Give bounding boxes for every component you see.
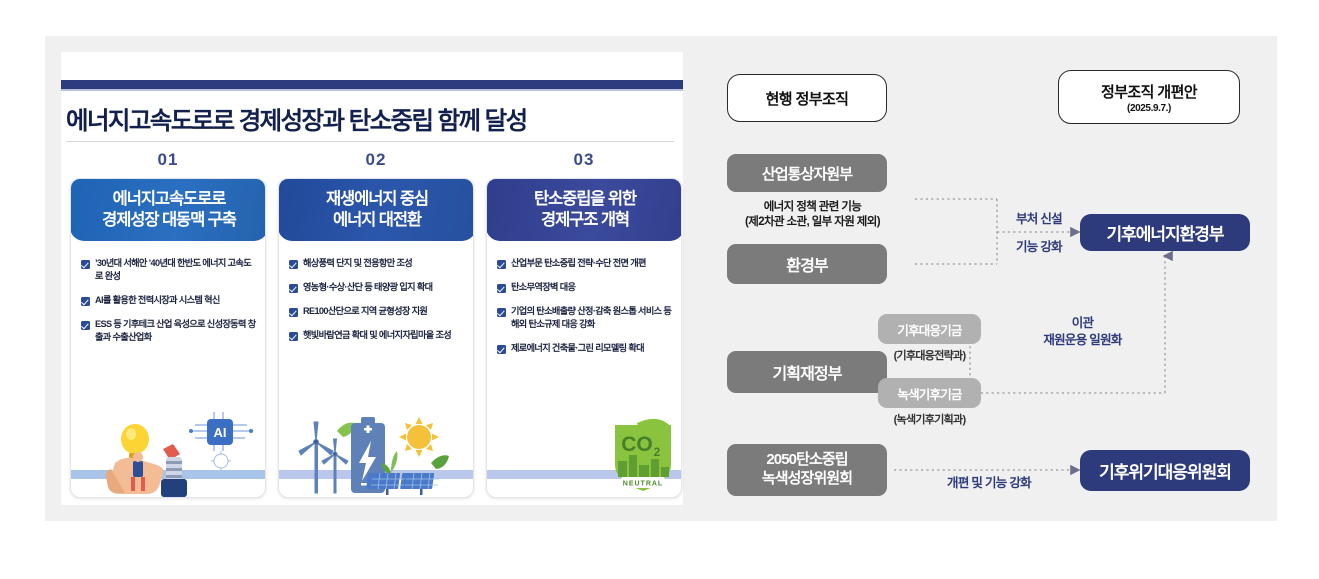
check-icon [289, 332, 298, 341]
card-3-title-line1: 탄소중립을 위한 [534, 189, 636, 210]
svg-text:CO: CO [621, 433, 653, 456]
list-item: 산업부문 탄소중립 전략·수단 전면 개편 [497, 257, 674, 270]
check-icon [497, 284, 506, 293]
page-title: 에너지고속도로로 경제성장과 탄소중립 함께 달성 [66, 102, 678, 137]
list-item: 제로에너지 건축물·그린 리모델링 확대 [497, 342, 674, 355]
bullet-text: 영농형·수상·산단 등 태양광 입지 확대 [303, 281, 432, 294]
card-number-03: 03 [486, 150, 682, 170]
title-divider [66, 141, 674, 142]
card-1-illustration: AI [71, 411, 266, 497]
fund-dept-climate-response: (기후대응전략과) [878, 347, 981, 363]
org-label: 환경부 [786, 252, 827, 276]
bullet-text: 기업의 탄소배출량 산정·감축 원스톱 서비스 등 해외 탄소규제 대응 강화 [511, 305, 674, 331]
panel-top-bar [61, 80, 683, 89]
org-box-climate-energy-environment-ministry[interactable]: 기후에너지환경부 [1080, 214, 1250, 251]
bullet-text: ’30년대 서해안 ’40년대 한반도 에너지 고속도로 완성 [95, 257, 258, 283]
note-new-ministry: 부처 신설 기능 강화 [1000, 211, 1078, 256]
check-icon [81, 297, 90, 306]
card-3-illustration: CO 2 NEUTRAL [487, 411, 682, 497]
card-2-bullets: 해상풍력 단지 및 전용항만 조성 영농형·수상·산단 등 태양광 입지 확대 … [279, 249, 474, 353]
note-energy-function-line1: 에너지 정책 관련 기능 [710, 200, 915, 215]
svg-text:AI: AI [214, 425, 227, 440]
bullet-text: AI를 활용한 전력시장과 시스템 혁신 [95, 294, 220, 307]
note-fund-transfer-line1: 이관 [1000, 315, 1165, 332]
bullet-text: RE100산단으로 지역 균형성장 지원 [303, 305, 427, 318]
bullet-text: 해상풍력 단지 및 전용항만 조성 [303, 257, 412, 270]
card-1-title-line2: 경제성장 대동맥 구축 [102, 210, 236, 231]
left-policy-panel: 에너지고속도로로 경제성장과 탄소중립 함께 달성 01 02 03 에너지고속… [61, 52, 683, 505]
check-icon [497, 345, 506, 354]
org-label-line2: 녹색성장위원회 [762, 470, 852, 489]
bullet-text: ESS 등 기후테크 산업 육성으로 신성장동력 창출과 수출산업화 [95, 318, 258, 344]
org-box-motie[interactable]: 산업통상자원부 [727, 154, 887, 192]
card-1-header: 에너지고속도로로 경제성장 대동맥 구축 [70, 178, 266, 241]
header-reform-plan: 정부조직 개편안 (2025.9.7.) [1058, 70, 1240, 124]
fund-label: 기후대응기금 [897, 320, 961, 339]
list-item: RE100산단으로 지역 균형성장 지원 [289, 305, 466, 318]
list-item: ESS 등 기후테크 산업 육성으로 신성장동력 창출과 수출산업화 [81, 318, 258, 344]
card-2-title-line2: 에너지 대전환 [333, 210, 421, 231]
org-box-2050-committee[interactable]: 2050탄소중립 녹색성장위원회 [727, 444, 887, 496]
check-icon [289, 260, 298, 269]
card-3-title-line2: 경제구조 개혁 [541, 210, 629, 231]
fund-dept-green-climate: (녹색기후기획과) [878, 411, 981, 427]
check-icon [497, 308, 506, 317]
bullet-text: 산업부문 탄소중립 전략·수단 전면 개편 [511, 257, 646, 270]
org-label: 기획재정부 [772, 360, 841, 384]
org-box-climate-crisis-committee[interactable]: 기후위기대응위원회 [1080, 450, 1250, 491]
header-plan-date: (2025.9.7.) [1127, 103, 1171, 114]
note-energy-function-line2: (제2차관 소관, 일부 자원 제외) [710, 215, 915, 230]
list-item: 해상풍력 단지 및 전용항만 조성 [289, 257, 466, 270]
government-reorg-diagram: 현행 정부조직 정부조직 개편안 (2025.9.7.) 산업통상자원부 에너지… [700, 52, 1277, 505]
list-item: AI를 활용한 전력시장과 시스템 혁신 [81, 294, 258, 307]
card-2-title-line1: 재생에너지 중심 [326, 189, 428, 210]
policy-cards: 01 02 03 에너지고속도로로 경제성장 대동맥 구축 ’30년대 서해안 … [66, 150, 678, 498]
header-current-structure: 현행 정부조직 [727, 74, 887, 122]
bullet-text: 탄소무역장벽 대응 [511, 281, 575, 294]
co2-neutral-badge-icon: CO 2 NEUTRAL [487, 411, 682, 497]
card-2-illustration [279, 411, 474, 497]
bullet-text: 제로에너지 건축물·그린 리모델링 확대 [511, 342, 644, 355]
org-label: 기후위기대응위원회 [1099, 458, 1231, 483]
card-number-01: 01 [70, 150, 266, 170]
check-icon [289, 308, 298, 317]
note-fund-transfer: 이관 재원운용 일원화 [1000, 315, 1165, 349]
org-label-line1: 2050탄소중립 [766, 451, 847, 470]
org-box-moe[interactable]: 환경부 [727, 244, 887, 284]
check-icon [289, 284, 298, 293]
org-label: 기후에너지환경부 [1106, 220, 1223, 245]
card-2-header: 재생에너지 중심 에너지 대전환 [278, 178, 474, 241]
note-fund-transfer-line2: 재원운용 일원화 [1000, 332, 1165, 349]
svg-text:2: 2 [654, 445, 661, 459]
note-new-ministry-line1: 부처 신설 [1000, 211, 1078, 228]
policy-card-2[interactable]: 재생에너지 중심 에너지 대전환 해상풍력 단지 및 전용항만 조성 영농형·수… [278, 178, 474, 498]
policy-card-1[interactable]: 에너지고속도로로 경제성장 대동맥 구축 ’30년대 서해안 ’40년대 한반도… [70, 178, 266, 498]
panel-top-bar-shadow [61, 89, 683, 91]
list-item: 영농형·수상·산단 등 태양광 입지 확대 [289, 281, 466, 294]
note-new-ministry-line2: 기능 강화 [1000, 239, 1078, 256]
infographic-page: 에너지고속도로로 경제성장과 탄소중립 함께 달성 01 02 03 에너지고속… [0, 0, 1319, 579]
list-item: 햇빛바람연금 확대 및 에너지자립마을 조성 [289, 329, 466, 342]
note-energy-function: 에너지 정책 관련 기능 (제2차관 소관, 일부 자원 제외) [710, 200, 915, 230]
fund-label: 녹색기후기금 [897, 384, 961, 403]
check-icon [81, 260, 90, 269]
card-3-bullets: 산업부문 탄소중립 전략·수단 전면 개편 탄소무역장벽 대응 기업의 탄소배출… [487, 249, 682, 366]
fund-box-green-climate[interactable]: 녹색기후기금 [878, 378, 981, 408]
card-1-bullets: ’30년대 서해안 ’40년대 한반도 에너지 고속도로 완성 AI를 활용한 … [71, 249, 266, 355]
fund-box-climate-response[interactable]: 기후대응기금 [878, 314, 981, 344]
note-reorganization: 개편 및 기능 강화 [900, 475, 1078, 492]
card-3-header: 탄소중립을 위한 경제구조 개혁 [486, 178, 682, 241]
svg-text:NEUTRAL: NEUTRAL [623, 481, 663, 488]
list-item: 기업의 탄소배출량 산정·감축 원스톱 서비스 등 해외 탄소규제 대응 강화 [497, 305, 674, 331]
org-box-moef[interactable]: 기획재정부 [727, 351, 887, 393]
list-item: 탄소무역장벽 대응 [497, 281, 674, 294]
check-icon [81, 321, 90, 330]
header-plan-title: 정부조직 개편안 [1101, 81, 1197, 102]
renewable-energy-icon [279, 411, 474, 497]
header-current-title: 현행 정부조직 [766, 88, 849, 109]
card-number-02: 02 [278, 150, 474, 170]
card-1-title-line1: 에너지고속도로로 [113, 189, 226, 210]
org-label: 산업통상자원부 [762, 163, 852, 184]
hand-lightbulb-ai-chip-icon: AI [71, 411, 266, 497]
list-item: ’30년대 서해안 ’40년대 한반도 에너지 고속도로 완성 [81, 257, 258, 283]
check-icon [497, 260, 506, 269]
policy-card-3[interactable]: 탄소중립을 위한 경제구조 개혁 산업부문 탄소중립 전략·수단 전면 개편 탄… [486, 178, 682, 498]
bullet-text: 햇빛바람연금 확대 및 에너지자립마을 조성 [303, 329, 451, 342]
